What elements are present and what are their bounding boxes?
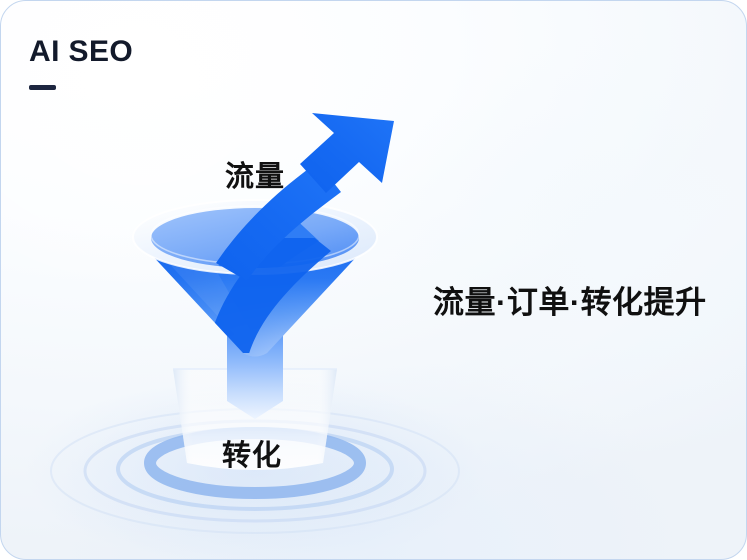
page-title: AI SEO [29, 37, 133, 67]
poster-card: AI SEO 流量·订单·转化提升 [0, 0, 747, 560]
title-block: AI SEO [29, 37, 133, 90]
label-conversion: 转化 [222, 432, 282, 474]
label-traffic: 流量 [225, 153, 285, 195]
title-underline-rule [29, 85, 56, 90]
tagline-text: 流量·订单·转化提升 [433, 277, 707, 322]
